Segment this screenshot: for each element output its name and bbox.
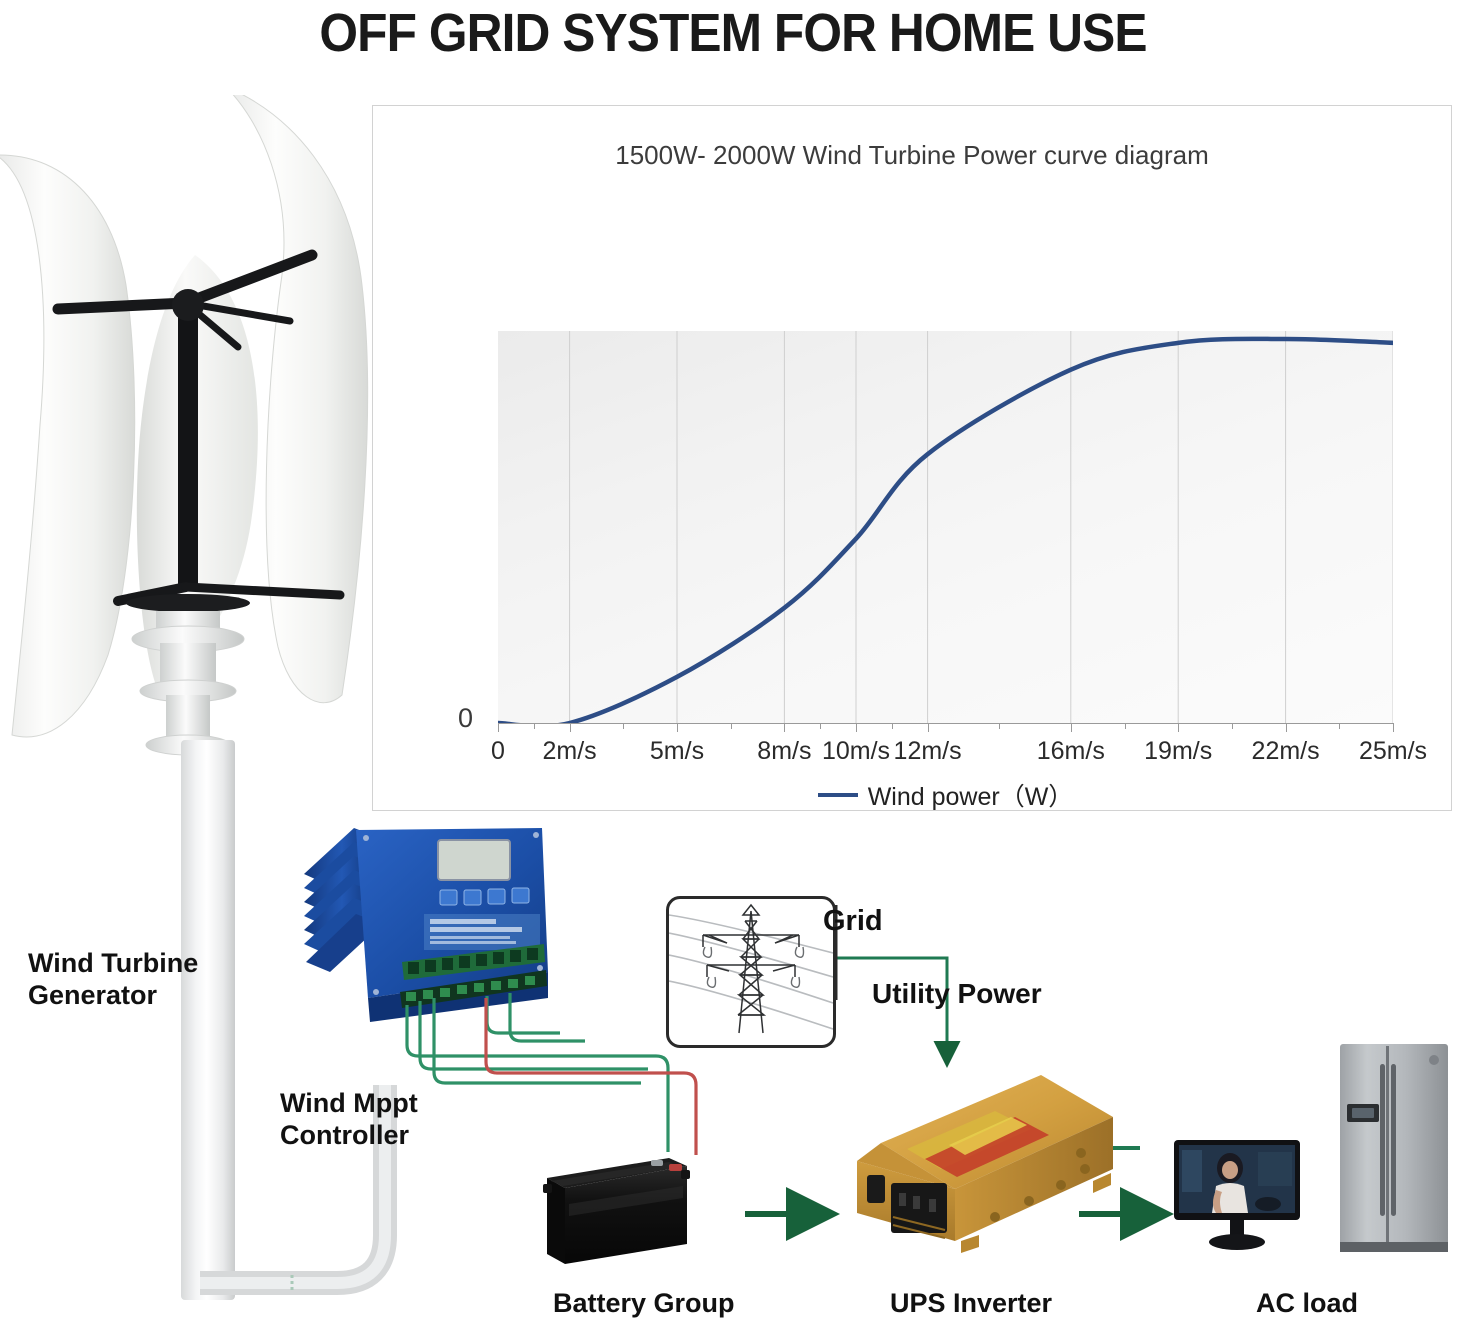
tv-scene-foreground [1255,1197,1281,1211]
x-axis-label: 12m/s [894,737,962,766]
chart-title: 1500W- 2000W Wind Turbine Power curve di… [373,140,1451,171]
x-axis-label: 16m/s [1037,737,1105,766]
legend-label: Wind power（W） [868,777,1074,813]
x-axis-label: 5m/s [650,737,704,766]
x-axis-tick [928,723,929,732]
label-ups-inverter: UPS Inverter [890,1288,1052,1320]
tv-scene-window [1258,1152,1292,1186]
fridge-logo [1429,1055,1439,1065]
label-wind-mppt-controller: Wind Mppt Controller [280,1088,418,1152]
x-axis-tick [498,723,499,732]
x-axis-label: 2m/s [543,737,597,766]
turbine-collar [160,643,216,685]
wind-mppt-controller-device [296,822,566,1042]
turbine-blade-left [0,155,135,737]
tv-svg [1172,1138,1302,1258]
battery-positive-terminal [669,1164,682,1171]
fridge-display-screen [1352,1108,1374,1118]
power-curve-svg [498,331,1393,723]
tv-scene-face [1222,1161,1238,1179]
x-axis-label: 8m/s [757,737,811,766]
x-axis-label: 22m/s [1252,737,1320,766]
battery-svg [543,1148,691,1268]
x-axis-minor-tick [820,723,821,729]
x-axis-minor-tick [731,723,732,729]
x-axis-minor-tick [623,723,624,729]
turbine-shaft [178,300,198,590]
ups-inverter-device [845,1065,1120,1260]
grid-tower-box [666,896,836,1048]
fridge-plinth [1340,1242,1448,1252]
refrigerator-ac-load [1338,1042,1450,1260]
x-axis-minor-tick [892,723,893,729]
x-axis-line [498,723,1393,724]
x-axis-label: 0 [491,737,505,766]
page-title: OFF GRID SYSTEM FOR HOME USE [59,2,1408,64]
x-axis-tick [677,723,678,732]
y-axis-zero-label: 0 [458,703,473,734]
label-wind-turbine-generator: Wind Turbine Generator [28,948,198,1012]
fridge-door-gap [1386,1046,1389,1250]
x-axis-tick [856,723,857,732]
tv-ac-load [1172,1138,1302,1258]
x-axis-minor-tick [1125,723,1126,729]
battery-negative-terminal [651,1160,663,1166]
x-axis-tick [1178,723,1179,732]
inverter-svg [845,1065,1120,1260]
x-axis-minor-tick [1339,723,1340,729]
turbine-base-plate [126,594,250,612]
mppt-lcd-display [438,840,510,880]
x-axis-tick [1071,723,1072,732]
label-grid: Grid [823,904,883,938]
x-axis-tick [1286,723,1287,732]
transmission-tower-icon [669,899,833,1045]
x-axis-minor-tick [999,723,1000,729]
chart-plot-wrapper: 0 02m/s5m/s8m/s10m/s12m/s16m/s19m/s22m/s… [498,331,1393,723]
x-axis-minor-tick [1232,723,1233,729]
tv-stand-base [1209,1234,1265,1250]
wind-power-curve [498,339,1393,723]
x-axis-tick [570,723,571,732]
fridge-svg [1338,1042,1450,1260]
chart-legend: Wind power（W） [498,777,1393,813]
tv-scene-wall [1182,1150,1202,1192]
x-axis-label: 19m/s [1144,737,1212,766]
inverter-foot-left [961,1235,979,1253]
fridge-handle-left [1380,1064,1385,1216]
x-axis-label: 25m/s [1359,737,1427,766]
mppt-svg [296,822,566,1042]
chart-gridlines [570,331,1393,723]
turbine-hub [172,289,204,321]
battery-tab-right [681,1170,690,1179]
battery-tab-left [543,1184,552,1193]
legend-line-swatch [818,793,858,797]
label-ac-load: AC load [1256,1288,1358,1320]
label-battery-group: Battery Group [553,1288,735,1320]
inverter-fan-vent [867,1175,885,1203]
x-axis-tick [784,723,785,732]
x-axis-tick [1393,723,1394,732]
x-axis-label: 10m/s [822,737,890,766]
wind-turbine-illustration [0,95,410,795]
label-utility-power: Utility Power [872,977,1042,1010]
power-lines [669,915,833,1029]
battery-group-device [543,1148,691,1268]
x-axis-minor-tick [534,723,535,729]
fridge-handle-right [1391,1064,1396,1216]
power-curve-chart-panel: 1500W- 2000W Wind Turbine Power curve di… [372,105,1452,811]
turbine-svg [0,95,410,795]
